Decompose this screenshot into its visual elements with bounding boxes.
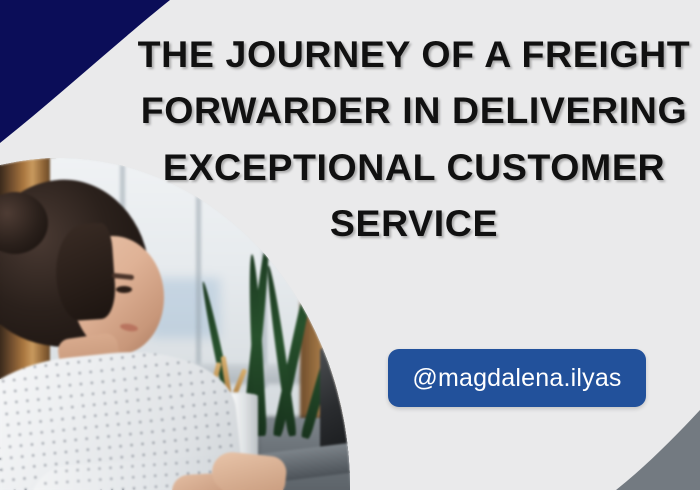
gray-corner-wedge-decoration [600,410,700,490]
woman-eye [116,286,132,293]
social-title-card: THE JOURNEY OF A FREIGHT FORWARDER IN DE… [0,0,700,490]
page-title: THE JOURNEY OF A FREIGHT FORWARDER IN DE… [128,26,700,251]
social-handle-text: @magdalena.ilyas [412,364,621,393]
social-handle-badge[interactable]: @magdalena.ilyas [388,349,646,407]
